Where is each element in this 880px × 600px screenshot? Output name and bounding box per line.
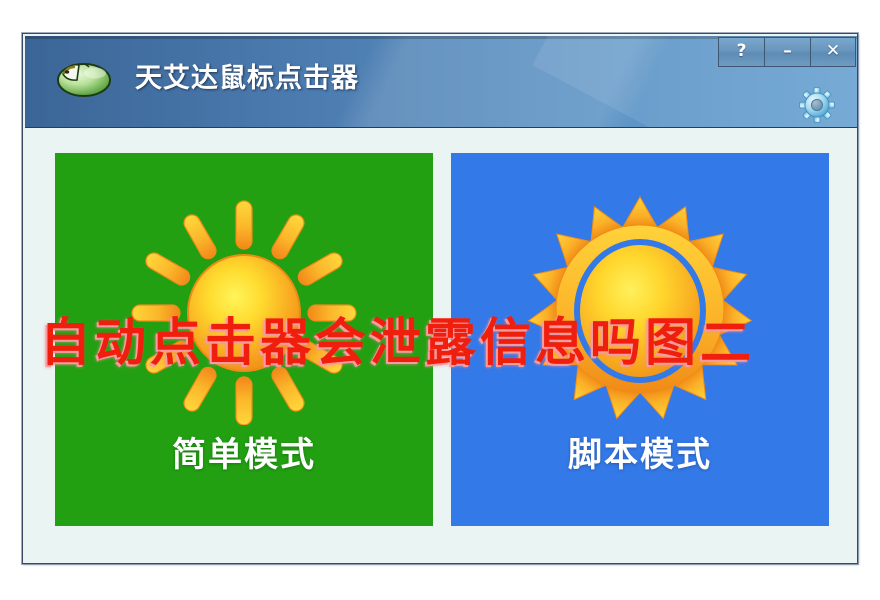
mode-panel-group: 简单模式 [55, 153, 829, 526]
mode-panel-script[interactable]: 脚本模式 [451, 153, 829, 526]
question-mark-icon: ? [737, 43, 747, 60]
close-button[interactable]: ✕ [810, 37, 856, 67]
mode-panel-script-label: 脚本模式 [451, 427, 829, 476]
page-title: 天艾达鼠标点击器 [135, 56, 359, 102]
close-icon: ✕ [826, 43, 840, 60]
settings-button[interactable] [798, 86, 836, 124]
sun-with-spiky-rays-icon [520, 195, 760, 425]
gear-icon [798, 86, 836, 124]
content-area: 简单模式 [25, 128, 857, 563]
mode-panel-simple-label: 简单模式 [55, 427, 433, 476]
minimize-button[interactable]: – [764, 37, 810, 67]
screen: 天艾达鼠标点击器 ? – ✕ [0, 0, 880, 600]
app-window: 天艾达鼠标点击器 ? – ✕ [22, 33, 858, 564]
green-mouse-icon [51, 56, 113, 102]
mode-panel-simple[interactable]: 简单模式 [55, 153, 433, 526]
sun-with-straight-rays-icon [124, 195, 364, 425]
minimize-icon: – [783, 43, 792, 60]
title-bar[interactable]: 天艾达鼠标点击器 ? – ✕ [25, 36, 857, 128]
caption-button-group: ? – ✕ [718, 37, 856, 67]
help-button[interactable]: ? [718, 37, 764, 67]
